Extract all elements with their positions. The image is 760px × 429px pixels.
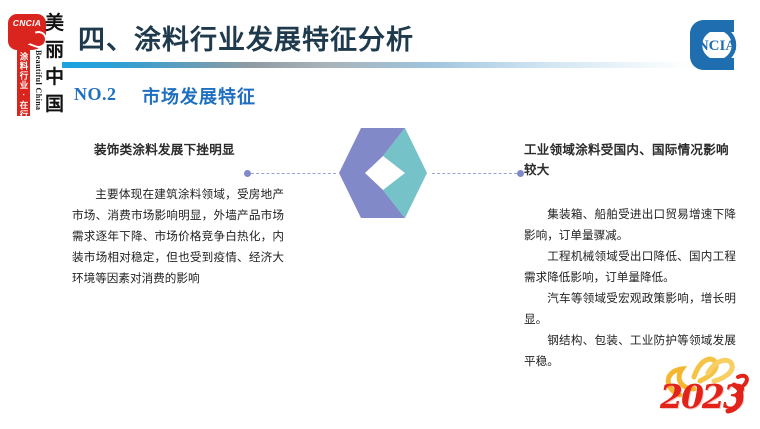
year-2023-rabbit-decoration: 2023 [650,351,754,423]
right-column-body: 集装箱、船舶受进出口贸易增速下降影响，订单量骤减。 工程机械领域受出口降低、国内… [524,204,736,372]
right-body-paragraph-1: 集装箱、船舶受进出口贸易增速下降影响，订单量骤减。 [524,204,736,246]
page-title: 四、涂料行业发展特征分析 [78,18,414,57]
brand-tagline-banner: 涂料行业 · 在行动 [17,50,30,116]
year-label: 2023 [660,377,744,416]
cncia-badge-label: CNCIA [10,19,44,28]
brand-char-4: 国 [41,91,68,118]
connector-right-dot-icon [517,170,524,177]
brand-char-2: 丽 [41,37,68,64]
right-body-paragraph-3: 汽车等领域受宏观政策影响，增长明显。 [524,288,736,330]
right-content-column: 工业领域涂料受国内、国际情况影响较大 集装箱、船舶受进出口贸易增速下降影响，订单… [524,140,736,372]
connector-right-line [432,173,517,174]
brand-tagline-text: 涂料行业 · 在行动 [18,52,29,129]
title-divider [62,62,692,68]
left-column-heading: 装饰类涂料发展下挫明显 [72,140,284,160]
left-content-column: 装饰类涂料发展下挫明显 主要体现在建筑涂料领域，受房地产市场、消费市场影响明显，… [72,140,284,289]
section-title: 市场发展特征 [142,83,256,109]
hexagon-diamond-emblem [337,126,429,220]
brand-char-3: 中 [41,64,68,91]
left-column-body: 主要体现在建筑涂料领域，受房地产市场、消费市场影响明显，外墙产品市场需求逐年下降… [72,184,284,289]
dashed-connector-right-icon [432,169,524,178]
ncia-logo-icon: NCIA [684,14,746,76]
section-number: NO.2 [74,84,117,105]
brand-english-name: Beautiful China [32,50,43,110]
left-body-paragraph-1: 主要体现在建筑涂料领域，受房地产市场、消费市场影响明显，外墙产品市场需求逐年下降… [72,184,284,289]
brand-char-1: 美 [41,10,68,37]
svg-text:NCIA: NCIA [698,38,737,54]
right-body-paragraph-2: 工程机械领域受出口降低、国内工程需求降低影响，订单量降低。 [524,246,736,288]
right-column-heading: 工业领域涂料受国内、国际情况影响较大 [524,140,736,180]
